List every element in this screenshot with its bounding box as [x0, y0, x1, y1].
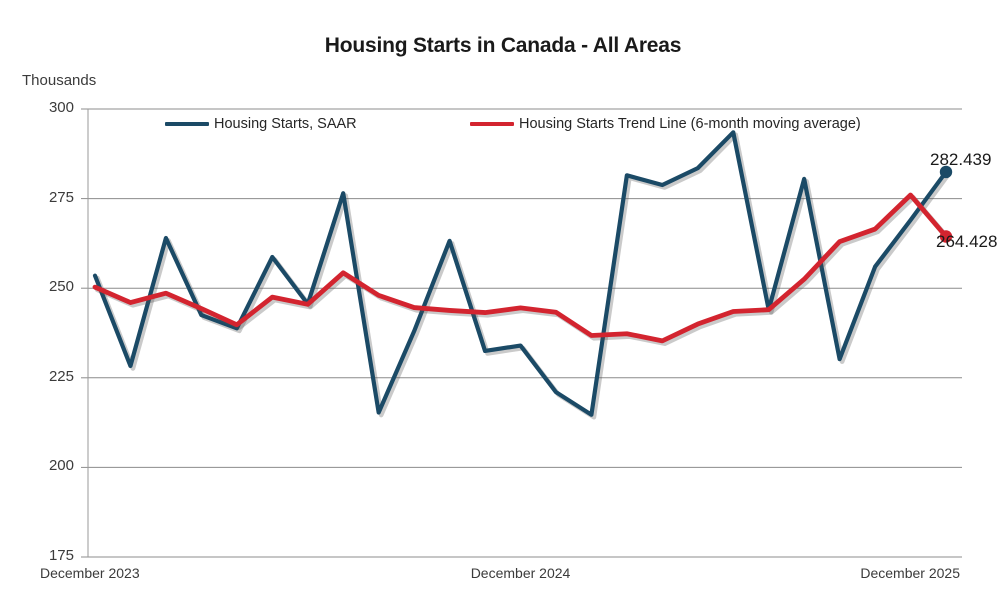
y-tick-label: 275: [22, 189, 74, 206]
y-tick-label: 225: [22, 368, 74, 385]
y-tick-label: 250: [22, 278, 74, 295]
legend-entry-trend[interactable]: Housing Starts Trend Line (6-month movin…: [470, 116, 861, 132]
x-tick-label: December 2024: [471, 565, 571, 581]
legend-label-saar: Housing Starts, SAAR: [214, 116, 357, 132]
x-tick-label: December 2023: [40, 565, 140, 581]
y-tick-label: 200: [22, 457, 74, 474]
endpoint-label-trend: 264.428: [936, 232, 997, 252]
gridlines: [81, 109, 962, 557]
series-layer: [95, 132, 949, 417]
legend-label-trend: Housing Starts Trend Line (6-month movin…: [519, 116, 861, 132]
legend-swatch-saar: [165, 122, 209, 126]
chart-legend: Housing Starts, SAAR Housing Starts Tren…: [165, 116, 925, 138]
series-shadow: [98, 135, 949, 417]
series-line-saar[interactable]: [95, 132, 946, 414]
y-tick-label: 175: [22, 547, 74, 564]
plot-area: [0, 0, 1006, 614]
legend-entry-saar[interactable]: Housing Starts, SAAR: [165, 116, 357, 132]
y-tick-label: 300: [22, 99, 74, 116]
endpoint-label-saar: 282.439: [930, 150, 991, 170]
housing-starts-chart: Housing Starts in Canada - All Areas Tho…: [0, 0, 1006, 614]
legend-swatch-trend: [470, 122, 514, 126]
x-tick-label: December 2025: [860, 565, 960, 581]
